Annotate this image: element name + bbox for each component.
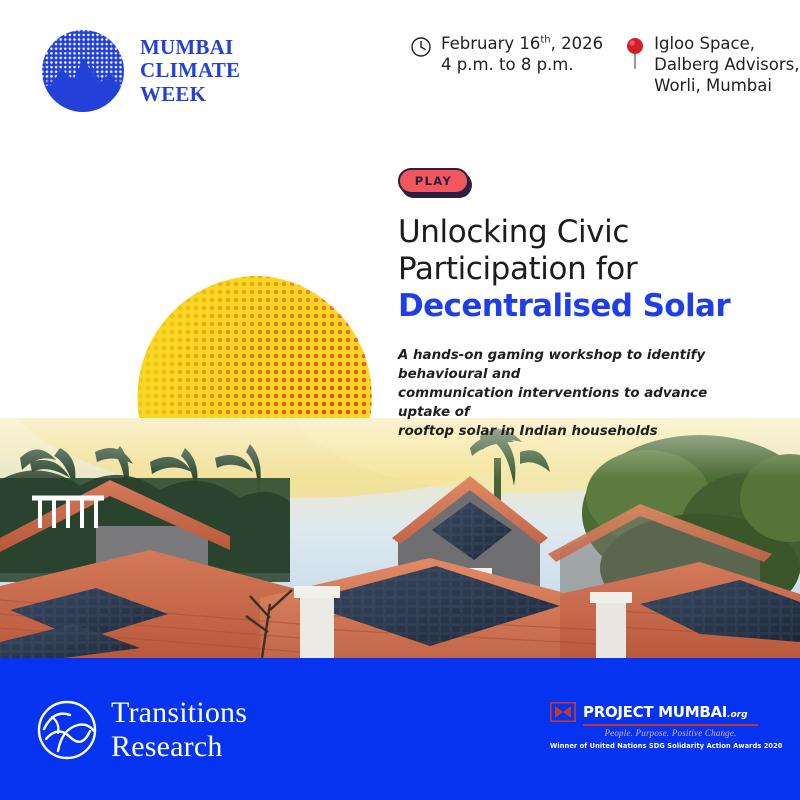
play-badge-label: PLAY — [398, 168, 469, 194]
headline-line-2: Participation for — [398, 251, 770, 288]
clock-icon — [410, 36, 432, 58]
dotted-globe-icon — [40, 28, 126, 114]
pm-domain: .org — [727, 710, 747, 720]
transitions-research-logo: Transitions Research — [36, 696, 247, 763]
event-datetime: February 16th, 20264 p.m. to 8 p.m. — [410, 34, 603, 76]
page-title: Unlocking Civic Participation for Decent… — [398, 214, 770, 326]
poster-footer: Transitions Research PROJECT MUMBAI.org … — [0, 658, 800, 800]
brand-name: MUMBAI CLIMATE WEEK — [140, 36, 240, 107]
pm-name: PROJECT MUMBAI — [583, 703, 727, 721]
project-mumbai-tagline: People. Purpose. Positive Change. — [583, 728, 758, 738]
globe-wave-icon — [36, 699, 98, 761]
project-mumbai-divider — [583, 724, 758, 726]
event-poster: MUMBAI CLIMATE WEEK February 16th, 20264… — [0, 0, 800, 800]
event-date-ordinal: th — [540, 35, 550, 46]
project-mumbai-logo: PROJECT MUMBAI.org People. Purpose. Posi… — [550, 702, 768, 750]
event-meta: February 16th, 20264 p.m. to 8 p.m. Iglo… — [410, 34, 799, 96]
rooftop-solar-photo — [0, 418, 800, 658]
mumbai-climate-week-logo: MUMBAI CLIMATE WEEK — [40, 28, 240, 114]
project-mumbai-mark-icon — [550, 702, 576, 722]
poster-header: MUMBAI CLIMATE WEEK February 16th, 20264… — [0, 0, 800, 150]
poster-content: PLAY Unlocking Civic Participation for D… — [398, 168, 770, 441]
event-venue-text: Igloo Space, Dalberg Advisors, Worli, Mu… — [654, 34, 799, 96]
play-badge[interactable]: PLAY — [398, 168, 472, 198]
event-venue: Igloo Space, Dalberg Advisors, Worli, Mu… — [625, 34, 799, 96]
project-mumbai-wordmark: PROJECT MUMBAI.org — [550, 702, 768, 722]
event-datetime-text: February 16th, 20264 p.m. to 8 p.m. — [441, 34, 603, 76]
event-time: 4 p.m. to 8 p.m. — [441, 55, 574, 74]
project-mumbai-award: Winner of United Nations SDG Solidarity … — [550, 742, 768, 750]
project-mumbai-text: PROJECT MUMBAI.org — [583, 703, 748, 721]
map-pin-icon — [625, 36, 645, 70]
event-date-prefix: February 16 — [441, 34, 540, 53]
headline-line-1: Unlocking Civic — [398, 214, 770, 251]
headline-accent: Decentralised Solar — [398, 288, 770, 325]
event-date-suffix: , 2026 — [551, 34, 603, 53]
transitions-research-name: Transitions Research — [111, 696, 247, 763]
page-subtitle: A hands-on gaming workshop to identify b… — [398, 346, 738, 441]
